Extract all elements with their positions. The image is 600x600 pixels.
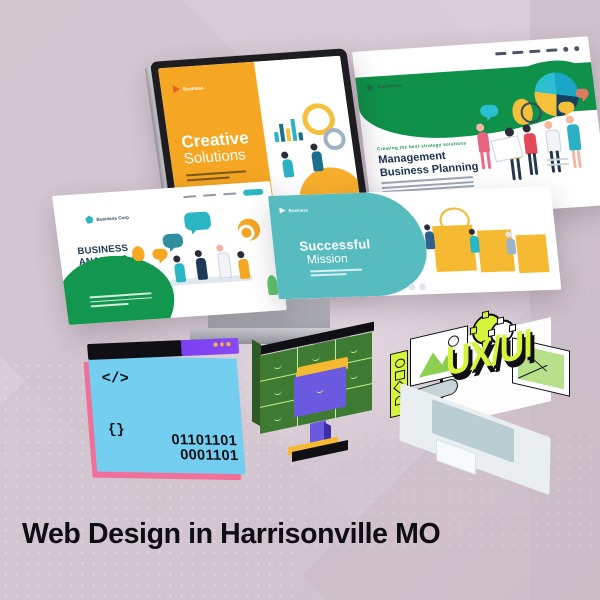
window-dot-icon — [227, 342, 231, 346]
iso-laptop-illustration: UX/UI — [384, 318, 574, 486]
card-logo: Business Corp — [85, 213, 129, 224]
nav-dot-icon — [574, 46, 580, 51]
window-dot-icon — [214, 343, 218, 347]
sparkle-logo-icon — [85, 215, 94, 223]
speech-bubble-icon — [558, 101, 575, 113]
person-illustration — [216, 244, 232, 279]
speech-bubble-icon — [183, 211, 211, 231]
person-illustration — [310, 143, 324, 171]
person-illustration — [544, 120, 562, 153]
business-analysis-card: Business Corp BUSINESS ANALYSIS & STATIS… — [52, 181, 287, 325]
nav-dash-icon — [183, 195, 196, 198]
nav-cta-button[interactable] — [243, 189, 264, 196]
binary-text: 01101101 0001101 — [171, 433, 239, 464]
person-illustration — [194, 250, 208, 280]
nav-dot-icon — [563, 47, 569, 52]
page-title: Web Design in Harrisonville MO — [22, 518, 440, 551]
successful-mission-card: Business Successful Mission — [268, 186, 561, 299]
window-control-buttons[interactable] — [214, 342, 231, 346]
poster-canvas: Business Creating the best strategy solu… — [0, 0, 600, 600]
dot-icon — [419, 283, 427, 290]
paper-lines — [547, 158, 570, 169]
dot-icon — [408, 284, 416, 291]
card-logo: Business — [279, 207, 308, 214]
nav-dash-icon — [203, 194, 216, 197]
arrow-logo-icon — [172, 85, 180, 93]
gear-icon — [322, 127, 347, 150]
tool-circle-icon — [395, 358, 405, 369]
window-dot-icon — [220, 342, 224, 346]
card-title: Management Business Planning — [378, 147, 491, 179]
arrow-logo-icon — [367, 84, 375, 92]
card-nav-menu — [495, 46, 580, 57]
nav-dash-icon — [546, 49, 557, 52]
binary-line-2: 0001101 — [172, 448, 239, 464]
speech-bubble-icon — [575, 88, 589, 98]
nav-dash-icon — [529, 50, 540, 53]
speech-bubble-icon — [479, 104, 498, 117]
code-window-illustration: </> {} 01101101 0001101 — [88, 356, 246, 474]
person-illustration — [565, 115, 581, 151]
arrow-logo-icon — [279, 207, 286, 213]
speech-bubble-icon — [162, 233, 184, 248]
carousel-dots[interactable] — [408, 283, 427, 291]
card-nav-menu — [183, 189, 264, 200]
person-illustration — [522, 124, 538, 155]
tool-square-icon — [395, 370, 405, 381]
bar-chart-illustration — [273, 116, 304, 142]
nav-dash-icon — [495, 52, 506, 55]
logo-text: Business — [377, 83, 402, 91]
nav-dash-icon — [223, 192, 236, 195]
logo-text: Business — [288, 207, 308, 213]
speech-bubble-icon — [152, 248, 168, 260]
code-window-body: </> {} 01101101 0001101 — [88, 356, 246, 474]
yellow-board-illustration — [515, 234, 549, 273]
logo-text: Business Corp — [96, 214, 129, 221]
iso-monitor-illustration — [252, 338, 384, 474]
person-illustration — [173, 255, 187, 282]
code-tag-icon: </> — [101, 370, 129, 387]
nav-dash-icon — [512, 51, 523, 54]
mission-title-light: Mission — [306, 251, 348, 266]
logo-text: Business — [183, 85, 204, 91]
person-illustration — [281, 151, 295, 177]
code-brace-icon: {} — [107, 422, 125, 438]
